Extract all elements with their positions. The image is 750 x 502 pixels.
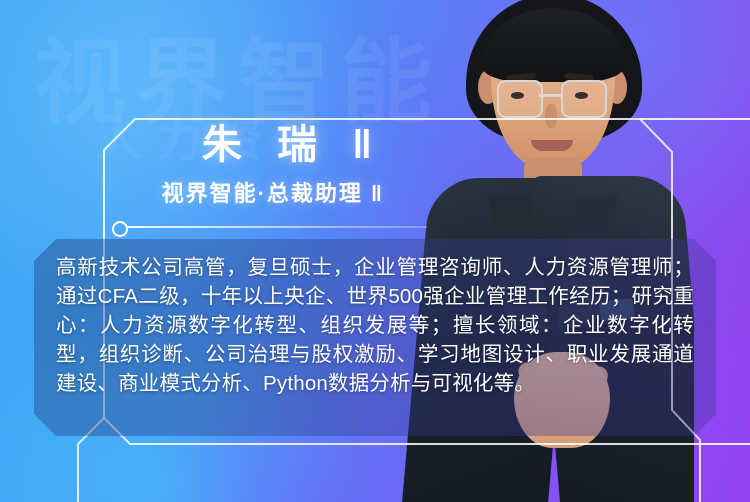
bio-text: 高新技术公司高管，复旦硕士，企业管理咨询师、人力资源管理师；通过CFA二级，十年… [56,253,694,398]
eyeglasses-icon [497,80,543,118]
name-block: 朱 瑞 ‖ 视界智能·总裁助理 ‖ [0,124,396,208]
bio-panel: 高新技术公司高管，复旦硕士，企业管理咨询师、人力资源管理师；通过CFA二级，十年… [34,239,716,436]
watermark-large: 视界智能 [34,8,442,141]
divider [112,220,442,236]
profile-card: 视界智能 人力资源 朱 瑞 ‖ [0,0,750,502]
divider-line [127,226,427,228]
person-role: 视界智能·总裁助理 ‖ [0,176,396,208]
person-name: 朱 瑞 ‖ [0,124,396,166]
circle-node-icon [112,221,128,237]
